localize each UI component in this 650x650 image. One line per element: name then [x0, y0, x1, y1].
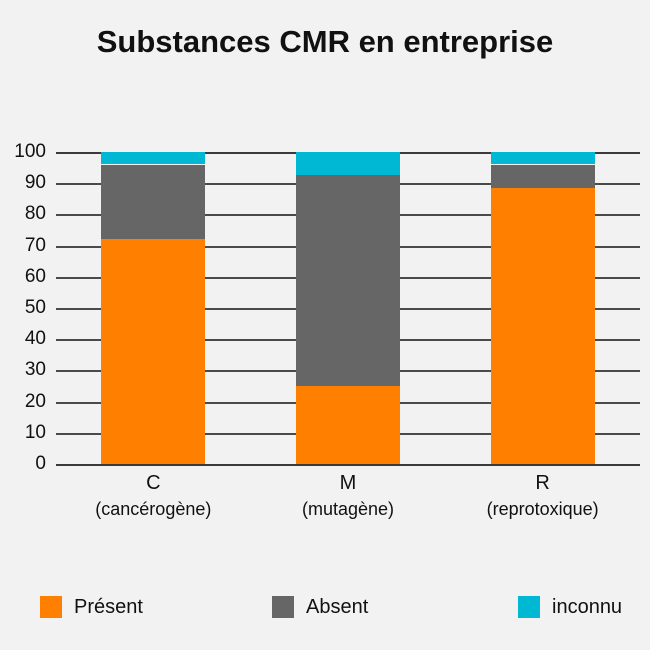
x-tick-sublabel-m: (mutagène): [253, 496, 443, 522]
x-tick-code-r: R: [448, 470, 638, 496]
bar-group-m[interactable]: [296, 152, 400, 464]
bar-group-c[interactable]: [101, 152, 205, 464]
y-tick-label-100: 100: [0, 141, 46, 163]
x-tick-code-m: M: [253, 470, 443, 496]
x-tick-sublabel-c: (cancérogène): [58, 496, 248, 522]
y-tick-label-30: 30: [0, 359, 46, 381]
bar-segment-c-absent[interactable]: [101, 165, 205, 240]
bar-segment-c-inconnu[interactable]: [101, 152, 205, 164]
chart-title: Substances CMR en entreprise: [0, 24, 650, 60]
legend-label-absent: Absent: [306, 596, 368, 619]
bar-segment-m-inconnu[interactable]: [296, 152, 400, 175]
chart-container: Substances CMR en entreprise 01020304050…: [0, 0, 650, 650]
y-tick-label-80: 80: [0, 203, 46, 225]
legend-label-inconnu: inconnu: [552, 596, 622, 619]
y-tick-label-50: 50: [0, 297, 46, 319]
bar-group-r[interactable]: [491, 152, 595, 464]
x-tick-m: M(mutagène): [253, 470, 443, 522]
legend-label-prsent: Présent: [74, 596, 143, 619]
plot-area: [56, 152, 640, 464]
bar-segment-r-absent[interactable]: [491, 165, 595, 188]
y-tick-label-90: 90: [0, 172, 46, 194]
y-tick-label-20: 20: [0, 391, 46, 413]
legend-item-inconnu[interactable]: inconnu: [518, 592, 622, 622]
y-tick-label-0: 0: [0, 453, 46, 475]
y-tick-label-60: 60: [0, 266, 46, 288]
y-tick-label-40: 40: [0, 328, 46, 350]
legend-item-prsent[interactable]: Présent: [40, 592, 143, 622]
y-tick-label-10: 10: [0, 422, 46, 444]
x-axis: C(cancérogène)M(mutagène)R(reprotoxique): [56, 470, 640, 530]
bar-segment-m-absent[interactable]: [296, 175, 400, 386]
bar-segment-r-inconnu[interactable]: [491, 152, 595, 164]
x-tick-sublabel-r: (reprotoxique): [448, 496, 638, 522]
x-tick-r: R(reprotoxique): [448, 470, 638, 522]
bar-segment-c-present[interactable]: [101, 239, 205, 464]
gridline-0: [56, 464, 640, 466]
x-tick-c: C(cancérogène): [58, 470, 248, 522]
chart-legend: PrésentAbsentinconnu: [0, 592, 650, 632]
x-tick-code-c: C: [58, 470, 248, 496]
bar-segment-r-present[interactable]: [491, 188, 595, 464]
legend-swatch-unknown: [518, 596, 540, 618]
legend-item-absent[interactable]: Absent: [272, 592, 368, 622]
bar-segment-m-present[interactable]: [296, 386, 400, 464]
y-tick-label-70: 70: [0, 235, 46, 257]
legend-swatch-absent: [272, 596, 294, 618]
legend-swatch-present: [40, 596, 62, 618]
